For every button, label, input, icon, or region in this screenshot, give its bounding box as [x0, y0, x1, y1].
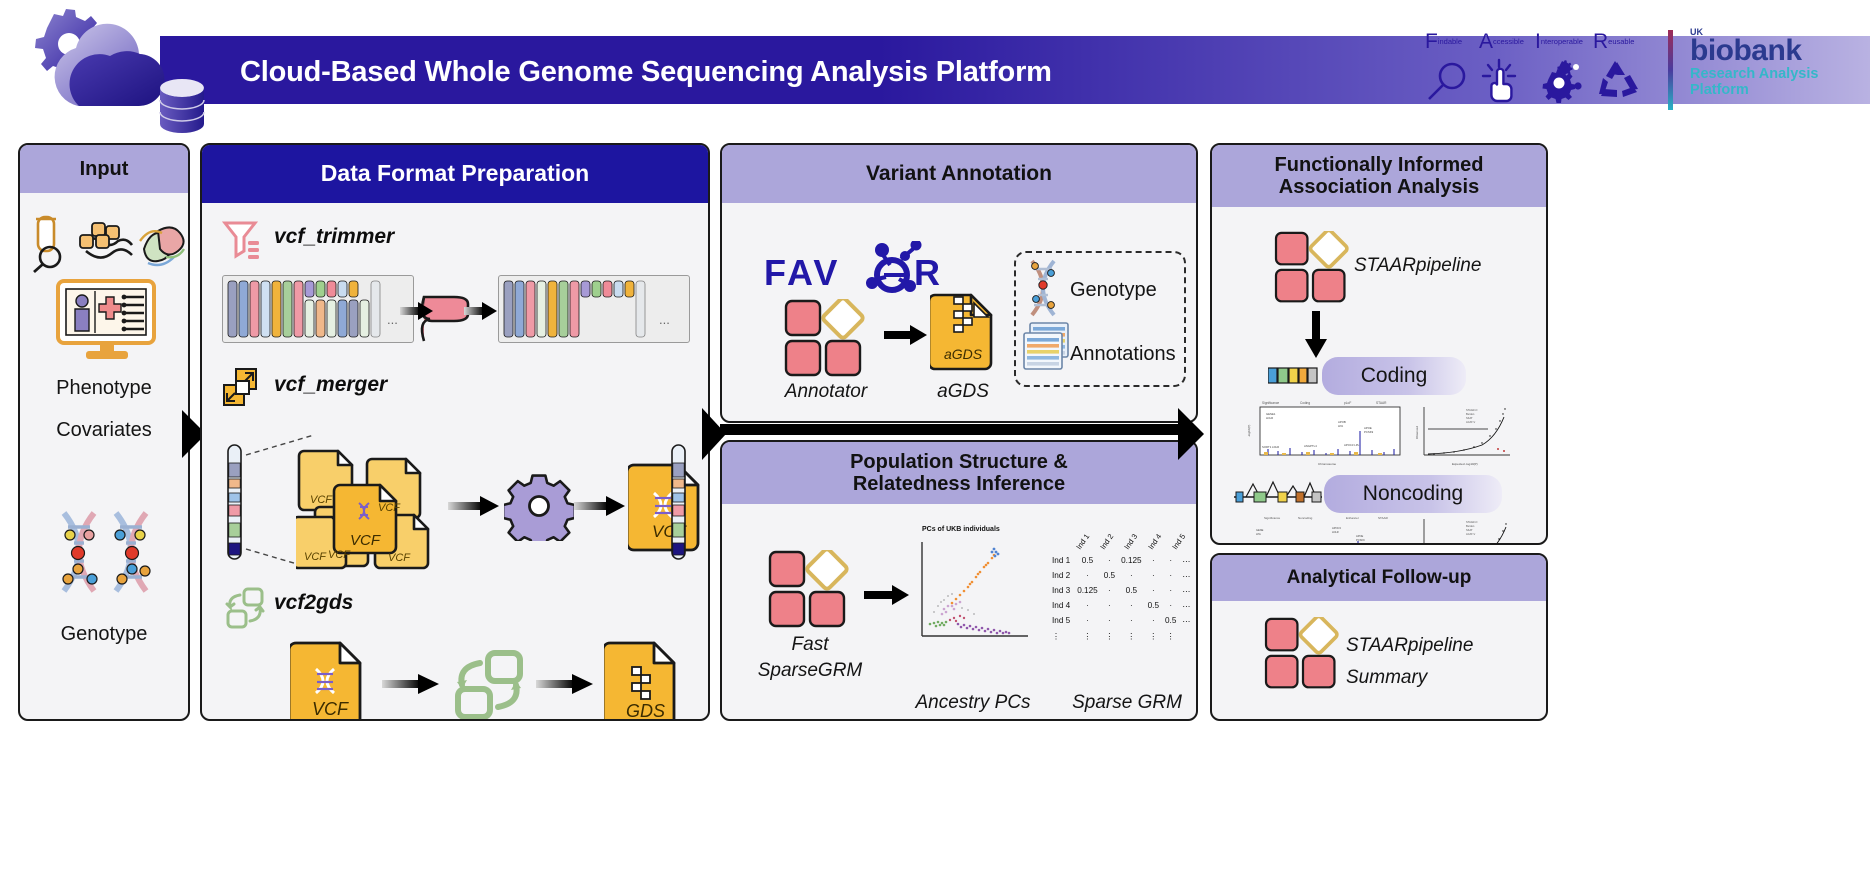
svg-text:PCSK9: PCSK9 — [1356, 538, 1365, 542]
svg-text:FAV: FAV — [764, 252, 840, 293]
svg-text:LPA: LPA — [1256, 532, 1261, 536]
grm-cell: ⋮ — [1163, 629, 1178, 642]
pca-caption: Ancestry PCs — [890, 692, 1056, 714]
page-title: Cloud-Based Whole Genome Sequencing Anal… — [240, 56, 1052, 89]
grm-col-header-3: Ind 3 — [1122, 532, 1139, 551]
input-label-genotype: Genotype — [20, 623, 188, 646]
grm-cell: · — [1163, 569, 1178, 582]
biobank-wordmark: biobank — [1690, 36, 1865, 66]
page-header: Cloud-Based Whole Genome Sequencing Anal… — [0, 0, 1870, 140]
protein-structure-icon — [136, 219, 190, 273]
grm-cell: 0.5 — [1163, 614, 1178, 627]
svg-text:R: R — [914, 252, 940, 293]
panel-analytical-followup: Analytical Follow-up STAARpipeline Summa… — [1210, 553, 1548, 721]
header-divider — [1668, 30, 1673, 110]
grm-cell: 0.5 — [1102, 569, 1117, 582]
arrow-merger-to-gear — [448, 495, 500, 517]
manhattan-plot-icon-noncoding: SignificanceNoncodingEnhancerSTAAR GENEL… — [1242, 513, 1406, 545]
arrow-trimmer-out — [464, 301, 498, 321]
grm-cell: 0.125 — [1075, 584, 1100, 597]
sparse-grm-matrix: Ind 1 Ind 2 Ind 3 Ind 4 Ind 5 Ind 10.5·0… — [1048, 524, 1198, 654]
grm-caption: Sparse GRM — [1052, 692, 1198, 714]
grm-cell: ⋯ — [1180, 599, 1192, 612]
chromosome-icon-right — [670, 443, 688, 561]
vcf-strip-before: ... — [222, 275, 414, 343]
grm-cell: · — [1163, 584, 1178, 597]
svg-text:APOC3 LPL: APOC3 LPL — [1344, 443, 1360, 447]
cloud-gear-database-icon — [14, 8, 224, 136]
input-label-phenotype: Phenotype — [20, 377, 188, 400]
vcf-strip-after: ... — [498, 275, 690, 343]
fair-letter-f: F — [1425, 30, 1438, 53]
grm-cell: ⋯ — [1180, 614, 1192, 627]
svg-text:LDLR: LDLR — [1266, 416, 1273, 420]
panel-association-title-line2: Association Analysis — [1275, 176, 1484, 198]
gears-icon — [1535, 58, 1585, 104]
svg-text:Observed: Observed — [1415, 426, 1419, 439]
panel-association-title: Functionally Informed Association Analys… — [1212, 145, 1546, 207]
svg-text:GENE: GENE — [1256, 528, 1264, 532]
tool-name-vcf-merger: vcf_merger — [274, 373, 387, 397]
qq-plot-icon-coding: STAAR-OBurdenSKATACAT-V Observed Expecte… — [1410, 399, 1518, 469]
svg-text:Significance: Significance — [1262, 401, 1279, 405]
grm-col-header-1: Ind 1 — [1074, 532, 1091, 551]
panel-input: Input — [18, 143, 190, 721]
grm-cell: ⋯ — [1180, 554, 1192, 567]
svg-text:STAAR: STAAR — [1378, 516, 1389, 520]
grm-row: Ind 2·0.5···⋯ — [1050, 569, 1193, 582]
grm-table: Ind 10.5·0.125··⋯Ind 2·0.5···⋯Ind 30.125… — [1048, 552, 1195, 644]
staarpipeline-caption: STAARpipeline — [1354, 255, 1534, 277]
fair-reusable: Reusable — [1593, 32, 1649, 52]
grm-col-header-4: Ind 4 — [1146, 532, 1163, 551]
category-pill-coding[interactable]: Coding — [1322, 357, 1466, 395]
svg-text:...: ... — [659, 312, 670, 327]
magnifier-icon — [1425, 58, 1471, 104]
grm-cell: ⋮ — [1146, 629, 1161, 642]
staar-blocks-icon-pipeline — [1274, 231, 1352, 305]
grm-cell: · — [1146, 569, 1161, 582]
manhattan-plot-icon-coding: SignificanceCodingpLoFSTAAR GENE1LDLR AP… — [1242, 399, 1406, 469]
svg-text:STAAR: STAAR — [1376, 401, 1387, 405]
fair-interoperable: Interoperable — [1535, 32, 1591, 52]
svg-text:STAAR-O: STAAR-O — [1466, 408, 1477, 412]
svg-text:LDLR: LDLR — [1332, 530, 1339, 534]
svg-text:Enhancer: Enhancer — [1346, 516, 1359, 520]
svg-text:STAAR-O: STAAR-O — [1466, 520, 1477, 524]
panel-variant-annotation: Variant Annotation FAV R — [720, 143, 1198, 423]
grm-row: Ind 5····0.5⋯ — [1050, 614, 1193, 627]
grm-cell: ⋮ — [1075, 629, 1100, 642]
svg-text:Significance: Significance — [1264, 516, 1281, 520]
grm-row-header: Ind 5 — [1050, 614, 1073, 627]
grm-cell: · — [1119, 569, 1144, 582]
grm-cell: ⋮ — [1119, 629, 1144, 642]
grm-row-header: Ind 2 — [1050, 569, 1073, 582]
arrow-annotator-to-agds — [884, 325, 928, 345]
panel-population-title-line2: Relatedness Inference — [850, 473, 1068, 495]
grm-cell: · — [1102, 584, 1117, 597]
click-hand-icon — [1479, 58, 1525, 104]
test-tube-magnifier-icon — [28, 215, 76, 275]
grm-cell: · — [1075, 599, 1100, 612]
fair-findable: Findable — [1425, 32, 1481, 52]
vcf2gds-output-file: GDS — [604, 639, 682, 721]
grm-cell — [1180, 629, 1192, 642]
svg-text:SORT1 LDLR: SORT1 LDLR — [1262, 445, 1279, 449]
staar-blocks-icon-followup — [1264, 617, 1342, 691]
svg-text:APOE: APOE — [1356, 534, 1363, 538]
fair-accessible: Accessible — [1479, 32, 1535, 52]
svg-text:Burden: Burden — [1466, 412, 1475, 416]
category-label-noncoding: Noncoding — [1363, 482, 1463, 506]
svg-text:VCF: VCF — [378, 502, 401, 514]
svg-text:ANGPTL4: ANGPTL4 — [1304, 444, 1317, 448]
grm-cell: · — [1163, 599, 1178, 612]
grm-row: Ind 10.5·0.125··⋯ — [1050, 554, 1193, 567]
grm-col-header-2: Ind 2 — [1098, 532, 1115, 551]
panel-population-title-line1: Population Structure & — [850, 451, 1068, 473]
staar-blocks-icon-sparsegrm — [768, 550, 852, 630]
grm-row: ⋮⋮⋮⋮⋮⋮ — [1050, 629, 1193, 642]
vcf2gds-input-file: VCF — [290, 639, 368, 721]
panel-followup-title: Analytical Follow-up — [1212, 555, 1546, 601]
svg-text:Burden: Burden — [1466, 524, 1475, 528]
category-pill-noncoding[interactable]: Noncoding — [1324, 475, 1502, 513]
arrow-pipeline-down — [1304, 311, 1328, 359]
fair-sub-interoperable: nteroperable — [1541, 32, 1583, 52]
grm-cell: · — [1075, 614, 1100, 627]
grm-cell: ⋮ — [1102, 629, 1117, 642]
tool-name-vcf-trimmer: vcf_trimmer — [274, 225, 394, 249]
biobank-subtitle-line2: Platform — [1690, 82, 1865, 98]
svg-text:pLoF: pLoF — [1344, 401, 1351, 405]
grm-cell: ⋯ — [1180, 584, 1192, 597]
fair-sub-accessible: ccessible — [1493, 32, 1524, 52]
grm-row: Ind 30.125·0.5··⋯ — [1050, 584, 1193, 597]
svg-text:-log10(P): -log10(P) — [1247, 425, 1251, 437]
svg-text:VCF: VCF — [310, 494, 333, 506]
grm-cell: 0.5 — [1146, 599, 1161, 612]
biobank-logo: UK biobank Research Analysis Platform — [1690, 28, 1865, 98]
grm-cell: · — [1146, 614, 1161, 627]
recycle-icon — [1593, 58, 1643, 104]
vcf-file-merged: VCF — [628, 461, 706, 553]
fair-letter-a: A — [1479, 30, 1493, 53]
grm-cell: 0.125 — [1119, 554, 1144, 567]
panel-prep-title: Data Format Preparation — [202, 145, 708, 203]
panel-annotation-title: Variant Annotation — [722, 145, 1196, 203]
svg-text:PCSK9: PCSK9 — [1364, 430, 1374, 434]
fair-letter-r: R — [1593, 30, 1608, 53]
pca-plot-title: PCs of UKB individuals — [922, 526, 1000, 533]
grm-cell: 0.5 — [1119, 584, 1144, 597]
svg-text:Chromosome: Chromosome — [1318, 462, 1336, 466]
panel-association-analysis: Functionally Informed Association Analys… — [1210, 143, 1548, 545]
svg-text:VCF: VCF — [388, 552, 411, 564]
arrow-to-pca — [864, 584, 910, 606]
tool-name-vcf2gds: vcf2gds — [274, 591, 353, 615]
dna-helix-icon-small — [1022, 259, 1064, 317]
fair-sub-findable: indable — [1438, 32, 1462, 52]
gds-output-label: GDS — [626, 701, 665, 721]
grm-cell: ⋯ — [1180, 569, 1192, 582]
grm-row-header: Ind 3 — [1050, 584, 1073, 597]
grm-cell: 0.5 — [1075, 554, 1100, 567]
panel-input-title: Input — [20, 145, 188, 193]
svg-text:VCF: VCF — [328, 549, 351, 561]
svg-text:VCF: VCF — [350, 532, 381, 549]
agds-content-genotype: Genotype — [1070, 279, 1157, 302]
panel-population-structure: Population Structure & Relatedness Infer… — [720, 440, 1198, 721]
svg-text:APOC3: APOC3 — [1332, 526, 1341, 530]
grm-cell: · — [1146, 584, 1161, 597]
agds-content-annotations: Annotations — [1070, 343, 1176, 366]
svg-text:ACAT-V: ACAT-V — [1466, 532, 1475, 536]
grm-col-header-5: Ind 5 — [1170, 532, 1187, 551]
svg-text:Expected -log10(P): Expected -log10(P) — [1452, 462, 1478, 466]
grm-cell: · — [1102, 599, 1117, 612]
favor-logo: FAV R — [764, 241, 950, 297]
fair-principles: Findable Accessible Interoperable — [1425, 32, 1655, 110]
vcf-file-pile: VCFVCF VCFVCF VCF VCF — [296, 445, 456, 573]
panel-population-title: Population Structure & Relatedness Infer… — [722, 442, 1196, 504]
svg-text:Noncoding: Noncoding — [1298, 516, 1313, 520]
exon-blocks-icon — [1268, 367, 1318, 385]
panel-data-format-preparation: Data Format Preparation vcf_trimmer — [200, 143, 710, 721]
patient-record-monitor-icon — [54, 279, 160, 365]
arrow-convert-to-gds — [536, 673, 594, 695]
svg-text:SKAT: SKAT — [1466, 528, 1473, 532]
grm-row-header: Ind 1 — [1050, 554, 1073, 567]
grm-row: Ind 4···0.5·⋯ — [1050, 599, 1193, 612]
agds-file-label: aGDS — [944, 346, 983, 362]
fair-sub-reusable: eusable — [1608, 32, 1634, 52]
funnel-filter-icon — [222, 219, 264, 263]
connector-bar-horizontal — [720, 424, 1190, 435]
grm-cell: · — [1146, 554, 1161, 567]
category-label-coding: Coding — [1361, 364, 1428, 388]
grm-row-header: Ind 4 — [1050, 599, 1073, 612]
svg-text:ACAT-V: ACAT-V — [1466, 420, 1475, 424]
dna-helix-icon — [50, 509, 162, 595]
stacked-tables-icon — [1020, 321, 1072, 373]
molecule-icon — [76, 221, 136, 273]
svg-text:...: ... — [387, 312, 398, 327]
svg-text:SKAT: SKAT — [1466, 416, 1473, 420]
svg-text:LPA: LPA — [1338, 424, 1343, 428]
input-label-covariates: Covariates — [20, 419, 188, 442]
grm-cell: · — [1075, 569, 1100, 582]
grm-cell: · — [1102, 614, 1117, 627]
sparsegrm-caption-line1: Fast — [742, 634, 878, 656]
convert-arrows-icon — [222, 585, 268, 631]
arrow-trimmer-in — [400, 301, 434, 321]
arrow-vcf-to-convert — [382, 673, 440, 695]
followup-caption-line2: Summary — [1346, 667, 1536, 689]
staar-blocks-icon — [784, 299, 868, 379]
grm-row-header: ⋮ — [1050, 629, 1073, 642]
grm-cell: · — [1102, 554, 1117, 567]
grm-cell: · — [1119, 614, 1144, 627]
peaks-track-icon — [1234, 477, 1322, 505]
agds-caption: aGDS — [908, 381, 1018, 403]
agds-file-icon: aGDS — [930, 291, 996, 371]
gear-icon — [504, 471, 574, 541]
svg-text:Coding: Coding — [1300, 401, 1310, 405]
merge-squares-icon — [222, 367, 266, 409]
panel-association-title-line1: Functionally Informed — [1275, 154, 1484, 176]
sparsegrm-caption-line2: SparseGRM — [732, 660, 888, 682]
ancestry-pca-scatter — [908, 536, 1034, 654]
svg-text:VCF: VCF — [304, 551, 327, 563]
convert-arrows-icon-large — [450, 647, 528, 721]
biobank-subtitle-line1: Research Analysis — [1690, 66, 1865, 82]
qq-plot-icon-noncoding: STAAR-OBurdenSKATACAT-V Expected -log10(… — [1410, 513, 1518, 545]
grm-cell: · — [1163, 554, 1178, 567]
grm-cell: · — [1119, 599, 1144, 612]
followup-caption-line1: STAARpipeline — [1346, 635, 1536, 657]
arrow-gear-to-vcf — [574, 495, 626, 517]
vcf2gds-input-label: VCF — [312, 699, 349, 719]
annotator-caption: Annotator — [758, 381, 894, 403]
